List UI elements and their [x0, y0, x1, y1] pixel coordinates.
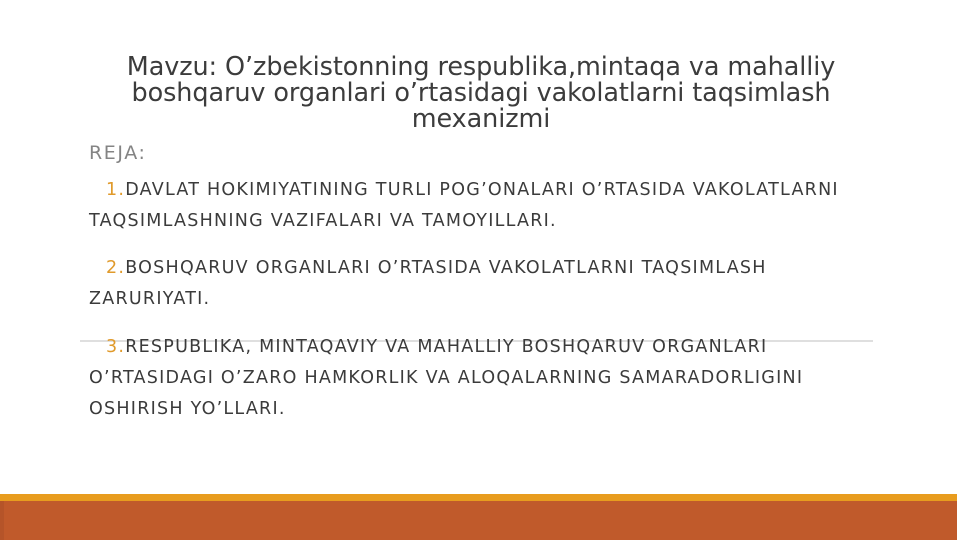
list-item-text: BOSHQARUV ORGANLARI O’RTASIDA VAKOLATLAR…: [89, 258, 767, 309]
slide-title: Mavzu: O’zbekistonning respublika,mintaq…: [86, 54, 876, 132]
footer-accent-bar-orange: [0, 501, 957, 540]
title-line-3: mexanizmi: [86, 106, 876, 132]
footer-accent-bar-left-edge: [0, 501, 4, 540]
list-item-text: RESPUBLIKA, MINTAQAVIY VA MAHALLIY BOSHQ…: [89, 337, 803, 419]
list-item-number: 1.: [106, 180, 125, 200]
list-item-number: 3.: [106, 337, 125, 357]
slide-canvas: Mavzu: O’zbekistonning respublika,mintaq…: [0, 0, 961, 540]
reja-label: REJA:: [89, 142, 147, 164]
list-item: 2.BOSHQARUV ORGANLARI O’RTASIDA VAKOLATL…: [89, 253, 889, 315]
list-item-number: 2.: [106, 258, 125, 278]
list-item-text: DAVLAT HOKIMIYATINING TURLI POG’ONALARI …: [89, 180, 839, 231]
title-line-2: boshqaruv organlari o’rtasidagi vakolatl…: [86, 80, 876, 106]
list-item: 1.DAVLAT HOKIMIYATINING TURLI POG’ONALAR…: [89, 175, 889, 237]
footer-accent-bar-gold: [0, 494, 957, 501]
title-line-1: Mavzu: O’zbekistonning respublika,mintaq…: [86, 54, 876, 80]
list-item: 3.RESPUBLIKA, MINTAQAVIY VA MAHALLIY BOS…: [89, 332, 889, 425]
